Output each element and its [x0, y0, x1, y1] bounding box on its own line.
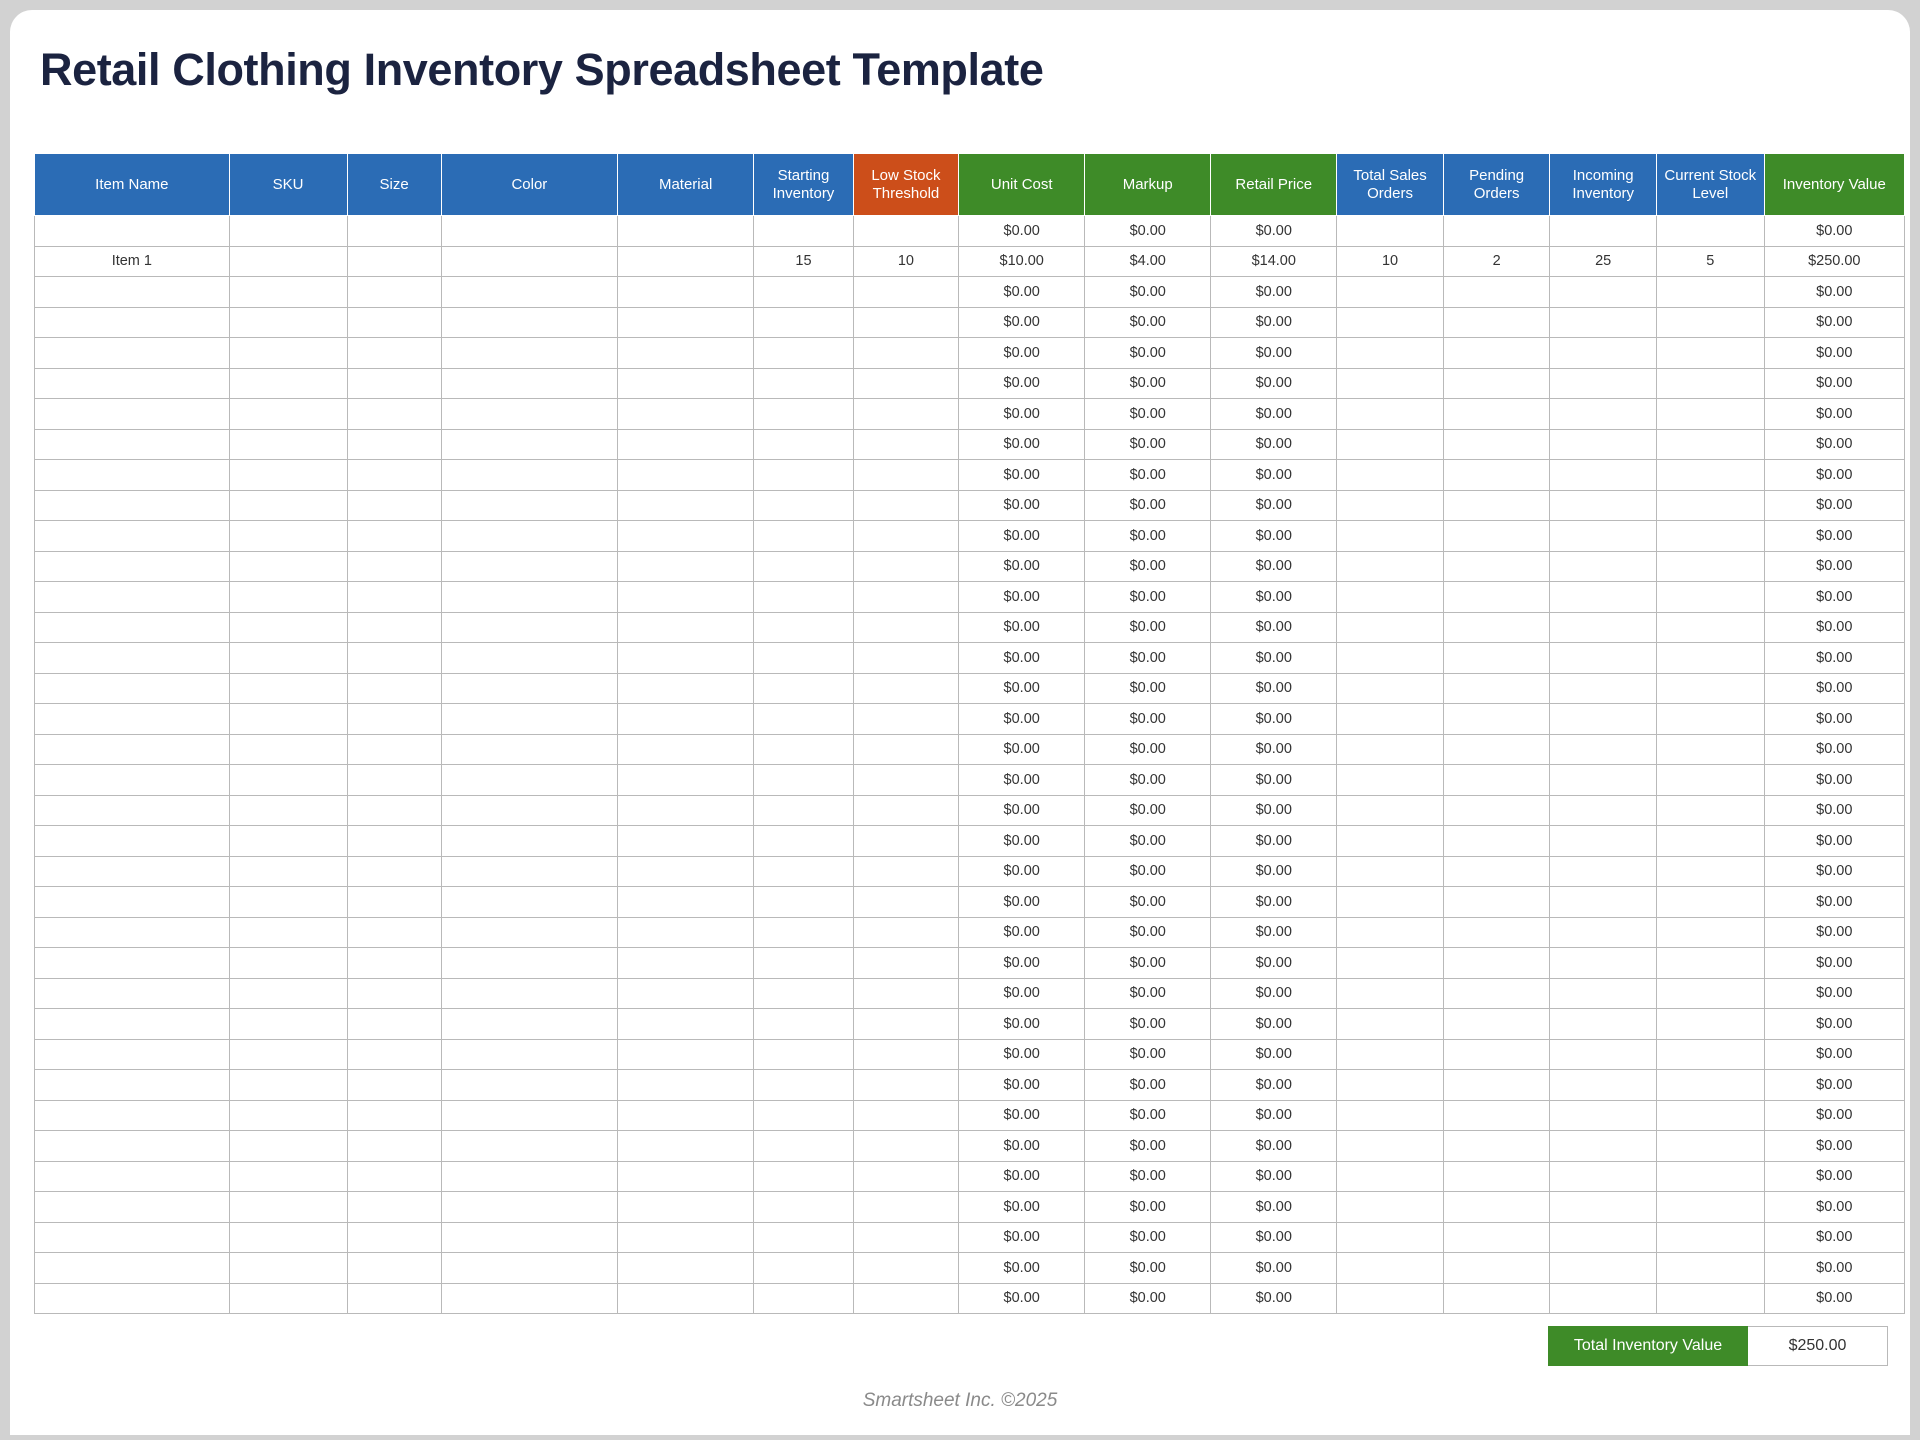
cell-color[interactable] — [441, 490, 617, 521]
cell-total-sales-orders[interactable] — [1337, 399, 1444, 430]
cell-unit-cost[interactable]: $0.00 — [959, 978, 1085, 1009]
table-row[interactable]: $0.00$0.00$0.00$0.00 — [35, 1131, 1905, 1162]
cell-item-name[interactable] — [35, 216, 230, 247]
cell-size[interactable] — [347, 1009, 441, 1040]
table-row[interactable]: $0.00$0.00$0.00$0.00 — [35, 826, 1905, 857]
cell-unit-cost[interactable]: $0.00 — [959, 1009, 1085, 1040]
cell-pending-orders[interactable] — [1443, 460, 1550, 491]
cell-retail-price[interactable]: $0.00 — [1211, 1009, 1337, 1040]
cell-pending-orders[interactable] — [1443, 338, 1550, 369]
cell-starting-inventory[interactable] — [754, 216, 853, 247]
cell-color[interactable] — [441, 1009, 617, 1040]
cell-unit-cost[interactable]: $0.00 — [959, 765, 1085, 796]
table-row[interactable]: $0.00$0.00$0.00$0.00 — [35, 1070, 1905, 1101]
cell-color[interactable] — [441, 765, 617, 796]
cell-retail-price[interactable]: $0.00 — [1211, 673, 1337, 704]
cell-markup[interactable]: $0.00 — [1085, 673, 1211, 704]
cell-total-sales-orders[interactable] — [1337, 704, 1444, 735]
cell-size[interactable] — [347, 826, 441, 857]
cell-retail-price[interactable]: $0.00 — [1211, 368, 1337, 399]
cell-incoming-inventory[interactable] — [1550, 1100, 1657, 1131]
cell-retail-price[interactable]: $0.00 — [1211, 612, 1337, 643]
cell-incoming-inventory[interactable] — [1550, 521, 1657, 552]
cell-unit-cost[interactable]: $0.00 — [959, 1100, 1085, 1131]
cell-current-stock-level[interactable] — [1656, 704, 1764, 735]
cell-current-stock-level[interactable] — [1656, 948, 1764, 979]
cell-retail-price[interactable]: $0.00 — [1211, 460, 1337, 491]
cell-sku[interactable] — [229, 338, 347, 369]
cell-pending-orders[interactable] — [1443, 521, 1550, 552]
cell-total-sales-orders[interactable] — [1337, 948, 1444, 979]
cell-total-sales-orders[interactable] — [1337, 673, 1444, 704]
cell-retail-price[interactable]: $0.00 — [1211, 856, 1337, 887]
cell-incoming-inventory[interactable] — [1550, 1009, 1657, 1040]
cell-incoming-inventory[interactable] — [1550, 795, 1657, 826]
cell-current-stock-level[interactable] — [1656, 765, 1764, 796]
cell-total-sales-orders[interactable] — [1337, 826, 1444, 857]
cell-sku[interactable] — [229, 1283, 347, 1314]
cell-unit-cost[interactable]: $0.00 — [959, 1283, 1085, 1314]
cell-low-stock-threshold[interactable] — [853, 612, 959, 643]
cell-current-stock-level[interactable] — [1656, 1161, 1764, 1192]
cell-material[interactable] — [618, 460, 754, 491]
cell-low-stock-threshold[interactable] — [853, 368, 959, 399]
cell-starting-inventory[interactable] — [754, 368, 853, 399]
cell-color[interactable] — [441, 917, 617, 948]
cell-total-sales-orders[interactable] — [1337, 643, 1444, 674]
cell-inventory-value[interactable]: $0.00 — [1764, 948, 1904, 979]
cell-item-name[interactable] — [35, 1131, 230, 1162]
cell-markup[interactable]: $0.00 — [1085, 368, 1211, 399]
cell-total-sales-orders[interactable] — [1337, 978, 1444, 1009]
cell-markup[interactable]: $0.00 — [1085, 826, 1211, 857]
cell-item-name[interactable] — [35, 765, 230, 796]
cell-low-stock-threshold[interactable] — [853, 1039, 959, 1070]
table-row[interactable]: $0.00$0.00$0.00$0.00 — [35, 734, 1905, 765]
cell-low-stock-threshold[interactable] — [853, 460, 959, 491]
cell-low-stock-threshold[interactable] — [853, 1222, 959, 1253]
cell-retail-price[interactable]: $0.00 — [1211, 948, 1337, 979]
cell-total-sales-orders[interactable] — [1337, 765, 1444, 796]
cell-current-stock-level[interactable] — [1656, 1070, 1764, 1101]
cell-color[interactable] — [441, 1222, 617, 1253]
table-row[interactable]: $0.00$0.00$0.00$0.00 — [35, 1161, 1905, 1192]
cell-size[interactable] — [347, 460, 441, 491]
column-header-size[interactable]: Size — [347, 154, 441, 216]
table-row[interactable]: $0.00$0.00$0.00$0.00 — [35, 460, 1905, 491]
cell-pending-orders[interactable] — [1443, 429, 1550, 460]
cell-low-stock-threshold[interactable] — [853, 1009, 959, 1040]
cell-markup[interactable]: $0.00 — [1085, 1009, 1211, 1040]
cell-pending-orders[interactable] — [1443, 826, 1550, 857]
cell-retail-price[interactable]: $0.00 — [1211, 307, 1337, 338]
cell-current-stock-level[interactable] — [1656, 887, 1764, 918]
cell-pending-orders[interactable]: 2 — [1443, 246, 1550, 277]
cell-total-sales-orders[interactable] — [1337, 429, 1444, 460]
cell-inventory-value[interactable]: $0.00 — [1764, 1070, 1904, 1101]
cell-size[interactable] — [347, 246, 441, 277]
cell-pending-orders[interactable] — [1443, 673, 1550, 704]
cell-size[interactable] — [347, 582, 441, 613]
cell-item-name[interactable] — [35, 1253, 230, 1284]
cell-material[interactable] — [618, 887, 754, 918]
cell-unit-cost[interactable]: $0.00 — [959, 307, 1085, 338]
cell-current-stock-level[interactable] — [1656, 399, 1764, 430]
cell-markup[interactable]: $0.00 — [1085, 704, 1211, 735]
cell-low-stock-threshold[interactable] — [853, 277, 959, 308]
cell-inventory-value[interactable]: $0.00 — [1764, 887, 1904, 918]
cell-current-stock-level[interactable] — [1656, 612, 1764, 643]
cell-unit-cost[interactable]: $0.00 — [959, 399, 1085, 430]
cell-starting-inventory[interactable] — [754, 1009, 853, 1040]
cell-material[interactable] — [618, 338, 754, 369]
cell-material[interactable] — [618, 704, 754, 735]
table-row[interactable]: $0.00$0.00$0.00$0.00 — [35, 948, 1905, 979]
cell-inventory-value[interactable]: $250.00 — [1764, 246, 1904, 277]
table-row[interactable]: $0.00$0.00$0.00$0.00 — [35, 765, 1905, 796]
cell-total-sales-orders[interactable] — [1337, 368, 1444, 399]
cell-current-stock-level[interactable] — [1656, 277, 1764, 308]
cell-sku[interactable] — [229, 1131, 347, 1162]
cell-pending-orders[interactable] — [1443, 948, 1550, 979]
cell-inventory-value[interactable]: $0.00 — [1764, 673, 1904, 704]
cell-item-name[interactable] — [35, 948, 230, 979]
cell-material[interactable] — [618, 521, 754, 552]
cell-material[interactable] — [618, 307, 754, 338]
cell-low-stock-threshold[interactable] — [853, 765, 959, 796]
cell-material[interactable] — [618, 734, 754, 765]
cell-markup[interactable]: $0.00 — [1085, 1222, 1211, 1253]
cell-low-stock-threshold[interactable] — [853, 704, 959, 735]
cell-markup[interactable]: $0.00 — [1085, 490, 1211, 521]
cell-unit-cost[interactable]: $0.00 — [959, 612, 1085, 643]
cell-item-name[interactable] — [35, 673, 230, 704]
column-header-incoming-inventory[interactable]: Incoming Inventory — [1550, 154, 1657, 216]
table-row[interactable]: $0.00$0.00$0.00$0.00 — [35, 551, 1905, 582]
cell-sku[interactable] — [229, 704, 347, 735]
cell-inventory-value[interactable]: $0.00 — [1764, 1222, 1904, 1253]
cell-pending-orders[interactable] — [1443, 765, 1550, 796]
cell-incoming-inventory[interactable] — [1550, 917, 1657, 948]
cell-material[interactable] — [618, 1253, 754, 1284]
cell-pending-orders[interactable] — [1443, 917, 1550, 948]
cell-item-name[interactable] — [35, 582, 230, 613]
cell-inventory-value[interactable]: $0.00 — [1764, 826, 1904, 857]
cell-pending-orders[interactable] — [1443, 887, 1550, 918]
cell-pending-orders[interactable] — [1443, 1161, 1550, 1192]
cell-markup[interactable]: $0.00 — [1085, 399, 1211, 430]
cell-starting-inventory[interactable] — [754, 704, 853, 735]
cell-current-stock-level[interactable]: 5 — [1656, 246, 1764, 277]
column-header-inventory-value[interactable]: Inventory Value — [1764, 154, 1904, 216]
cell-size[interactable] — [347, 643, 441, 674]
cell-retail-price[interactable]: $0.00 — [1211, 734, 1337, 765]
cell-retail-price[interactable]: $0.00 — [1211, 429, 1337, 460]
cell-incoming-inventory[interactable] — [1550, 948, 1657, 979]
cell-retail-price[interactable]: $0.00 — [1211, 551, 1337, 582]
cell-size[interactable] — [347, 704, 441, 735]
cell-retail-price[interactable]: $0.00 — [1211, 978, 1337, 1009]
cell-low-stock-threshold[interactable] — [853, 399, 959, 430]
cell-retail-price[interactable]: $0.00 — [1211, 1100, 1337, 1131]
cell-sku[interactable] — [229, 521, 347, 552]
cell-starting-inventory[interactable]: 15 — [754, 246, 853, 277]
cell-sku[interactable] — [229, 795, 347, 826]
table-row[interactable]: $0.00$0.00$0.00$0.00 — [35, 1253, 1905, 1284]
cell-retail-price[interactable]: $0.00 — [1211, 826, 1337, 857]
cell-pending-orders[interactable] — [1443, 1222, 1550, 1253]
cell-markup[interactable]: $0.00 — [1085, 795, 1211, 826]
cell-color[interactable] — [441, 795, 617, 826]
cell-size[interactable] — [347, 307, 441, 338]
cell-total-sales-orders[interactable] — [1337, 1131, 1444, 1162]
cell-retail-price[interactable]: $0.00 — [1211, 338, 1337, 369]
cell-size[interactable] — [347, 978, 441, 1009]
cell-sku[interactable] — [229, 399, 347, 430]
table-row[interactable]: $0.00$0.00$0.00$0.00 — [35, 612, 1905, 643]
cell-inventory-value[interactable]: $0.00 — [1764, 277, 1904, 308]
table-row[interactable]: $0.00$0.00$0.00$0.00 — [35, 216, 1905, 247]
cell-unit-cost[interactable]: $0.00 — [959, 582, 1085, 613]
cell-retail-price[interactable]: $0.00 — [1211, 765, 1337, 796]
table-row[interactable]: $0.00$0.00$0.00$0.00 — [35, 643, 1905, 674]
cell-inventory-value[interactable]: $0.00 — [1764, 765, 1904, 796]
cell-retail-price[interactable]: $0.00 — [1211, 490, 1337, 521]
cell-total-sales-orders[interactable] — [1337, 216, 1444, 247]
cell-color[interactable] — [441, 1070, 617, 1101]
cell-item-name[interactable] — [35, 643, 230, 674]
cell-current-stock-level[interactable] — [1656, 338, 1764, 369]
table-row[interactable]: $0.00$0.00$0.00$0.00 — [35, 338, 1905, 369]
cell-low-stock-threshold[interactable] — [853, 216, 959, 247]
cell-sku[interactable] — [229, 307, 347, 338]
column-header-sku[interactable]: SKU — [229, 154, 347, 216]
cell-markup[interactable]: $0.00 — [1085, 734, 1211, 765]
cell-pending-orders[interactable] — [1443, 307, 1550, 338]
cell-material[interactable] — [618, 1070, 754, 1101]
cell-color[interactable] — [441, 643, 617, 674]
column-header-markup[interactable]: Markup — [1085, 154, 1211, 216]
cell-unit-cost[interactable]: $0.00 — [959, 551, 1085, 582]
cell-low-stock-threshold[interactable] — [853, 978, 959, 1009]
cell-starting-inventory[interactable] — [754, 765, 853, 796]
cell-starting-inventory[interactable] — [754, 490, 853, 521]
cell-incoming-inventory[interactable] — [1550, 856, 1657, 887]
table-row[interactable]: $0.00$0.00$0.00$0.00 — [35, 887, 1905, 918]
cell-current-stock-level[interactable] — [1656, 1283, 1764, 1314]
cell-low-stock-threshold[interactable] — [853, 521, 959, 552]
cell-sku[interactable] — [229, 612, 347, 643]
cell-incoming-inventory[interactable] — [1550, 582, 1657, 613]
cell-item-name[interactable] — [35, 1222, 230, 1253]
cell-current-stock-level[interactable] — [1656, 582, 1764, 613]
cell-unit-cost[interactable]: $0.00 — [959, 1131, 1085, 1162]
cell-item-name[interactable] — [35, 887, 230, 918]
cell-incoming-inventory[interactable] — [1550, 399, 1657, 430]
cell-material[interactable] — [618, 551, 754, 582]
table-row[interactable]: $0.00$0.00$0.00$0.00 — [35, 795, 1905, 826]
cell-current-stock-level[interactable] — [1656, 307, 1764, 338]
cell-item-name[interactable]: Item 1 — [35, 246, 230, 277]
cell-low-stock-threshold[interactable] — [853, 582, 959, 613]
cell-retail-price[interactable]: $0.00 — [1211, 917, 1337, 948]
cell-material[interactable] — [618, 429, 754, 460]
cell-sku[interactable] — [229, 1039, 347, 1070]
cell-color[interactable] — [441, 673, 617, 704]
cell-inventory-value[interactable]: $0.00 — [1764, 856, 1904, 887]
cell-unit-cost[interactable]: $0.00 — [959, 673, 1085, 704]
cell-incoming-inventory[interactable] — [1550, 826, 1657, 857]
cell-unit-cost[interactable]: $0.00 — [959, 368, 1085, 399]
cell-item-name[interactable] — [35, 917, 230, 948]
cell-current-stock-level[interactable] — [1656, 521, 1764, 552]
cell-total-sales-orders[interactable] — [1337, 1253, 1444, 1284]
table-row[interactable]: $0.00$0.00$0.00$0.00 — [35, 1100, 1905, 1131]
cell-incoming-inventory[interactable] — [1550, 1070, 1657, 1101]
cell-low-stock-threshold[interactable] — [853, 429, 959, 460]
cell-total-sales-orders[interactable] — [1337, 1009, 1444, 1040]
cell-pending-orders[interactable] — [1443, 1100, 1550, 1131]
cell-low-stock-threshold[interactable] — [853, 1192, 959, 1223]
cell-item-name[interactable] — [35, 338, 230, 369]
cell-current-stock-level[interactable] — [1656, 1192, 1764, 1223]
cell-inventory-value[interactable]: $0.00 — [1764, 978, 1904, 1009]
table-row[interactable]: $0.00$0.00$0.00$0.00 — [35, 917, 1905, 948]
cell-total-sales-orders[interactable] — [1337, 307, 1444, 338]
cell-color[interactable] — [441, 826, 617, 857]
cell-incoming-inventory[interactable] — [1550, 1039, 1657, 1070]
cell-unit-cost[interactable]: $0.00 — [959, 887, 1085, 918]
cell-current-stock-level[interactable] — [1656, 551, 1764, 582]
cell-low-stock-threshold[interactable] — [853, 1283, 959, 1314]
cell-low-stock-threshold[interactable] — [853, 551, 959, 582]
cell-markup[interactable]: $0.00 — [1085, 338, 1211, 369]
cell-material[interactable] — [618, 1222, 754, 1253]
cell-item-name[interactable] — [35, 856, 230, 887]
cell-item-name[interactable] — [35, 277, 230, 308]
cell-size[interactable] — [347, 917, 441, 948]
cell-current-stock-level[interactable] — [1656, 216, 1764, 247]
cell-total-sales-orders[interactable] — [1337, 338, 1444, 369]
cell-retail-price[interactable]: $14.00 — [1211, 246, 1337, 277]
cell-sku[interactable] — [229, 978, 347, 1009]
table-row[interactable]: $0.00$0.00$0.00$0.00 — [35, 704, 1905, 735]
cell-total-sales-orders[interactable] — [1337, 1222, 1444, 1253]
cell-starting-inventory[interactable] — [754, 521, 853, 552]
cell-markup[interactable]: $0.00 — [1085, 1283, 1211, 1314]
cell-low-stock-threshold[interactable] — [853, 887, 959, 918]
cell-total-sales-orders[interactable]: 10 — [1337, 246, 1444, 277]
cell-color[interactable] — [441, 1283, 617, 1314]
cell-current-stock-level[interactable] — [1656, 460, 1764, 491]
cell-color[interactable] — [441, 1131, 617, 1162]
cell-inventory-value[interactable]: $0.00 — [1764, 643, 1904, 674]
cell-low-stock-threshold[interactable] — [853, 643, 959, 674]
cell-pending-orders[interactable] — [1443, 582, 1550, 613]
cell-current-stock-level[interactable] — [1656, 1100, 1764, 1131]
column-header-pending-orders[interactable]: Pending Orders — [1443, 154, 1550, 216]
cell-markup[interactable]: $0.00 — [1085, 307, 1211, 338]
cell-retail-price[interactable]: $0.00 — [1211, 795, 1337, 826]
cell-material[interactable] — [618, 582, 754, 613]
cell-inventory-value[interactable]: $0.00 — [1764, 1009, 1904, 1040]
cell-total-sales-orders[interactable] — [1337, 887, 1444, 918]
cell-markup[interactable]: $0.00 — [1085, 1161, 1211, 1192]
cell-item-name[interactable] — [35, 1070, 230, 1101]
cell-material[interactable] — [618, 216, 754, 247]
cell-sku[interactable] — [229, 1100, 347, 1131]
cell-total-sales-orders[interactable] — [1337, 277, 1444, 308]
cell-color[interactable] — [441, 246, 617, 277]
cell-material[interactable] — [618, 673, 754, 704]
table-row[interactable]: $0.00$0.00$0.00$0.00 — [35, 978, 1905, 1009]
cell-material[interactable] — [618, 765, 754, 796]
cell-color[interactable] — [441, 1039, 617, 1070]
cell-color[interactable] — [441, 612, 617, 643]
cell-material[interactable] — [618, 246, 754, 277]
cell-current-stock-level[interactable] — [1656, 917, 1764, 948]
cell-color[interactable] — [441, 460, 617, 491]
cell-sku[interactable] — [229, 490, 347, 521]
cell-item-name[interactable] — [35, 1192, 230, 1223]
cell-low-stock-threshold[interactable] — [853, 948, 959, 979]
cell-color[interactable] — [441, 307, 617, 338]
cell-incoming-inventory[interactable] — [1550, 612, 1657, 643]
cell-item-name[interactable] — [35, 460, 230, 491]
table-row[interactable]: $0.00$0.00$0.00$0.00 — [35, 582, 1905, 613]
cell-markup[interactable]: $0.00 — [1085, 521, 1211, 552]
cell-unit-cost[interactable]: $0.00 — [959, 643, 1085, 674]
cell-sku[interactable] — [229, 1161, 347, 1192]
cell-color[interactable] — [441, 338, 617, 369]
column-header-starting-inventory[interactable]: Starting Inventory — [754, 154, 853, 216]
cell-markup[interactable]: $0.00 — [1085, 277, 1211, 308]
table-row[interactable]: $0.00$0.00$0.00$0.00 — [35, 399, 1905, 430]
cell-unit-cost[interactable]: $0.00 — [959, 338, 1085, 369]
cell-material[interactable] — [618, 978, 754, 1009]
cell-current-stock-level[interactable] — [1656, 734, 1764, 765]
cell-incoming-inventory[interactable] — [1550, 1161, 1657, 1192]
cell-material[interactable] — [618, 1192, 754, 1223]
cell-markup[interactable]: $0.00 — [1085, 429, 1211, 460]
cell-incoming-inventory[interactable] — [1550, 1283, 1657, 1314]
column-header-material[interactable]: Material — [618, 154, 754, 216]
cell-sku[interactable] — [229, 460, 347, 491]
cell-incoming-inventory[interactable] — [1550, 460, 1657, 491]
cell-inventory-value[interactable]: $0.00 — [1764, 1161, 1904, 1192]
cell-current-stock-level[interactable] — [1656, 1222, 1764, 1253]
cell-item-name[interactable] — [35, 734, 230, 765]
cell-sku[interactable] — [229, 1222, 347, 1253]
cell-pending-orders[interactable] — [1443, 1253, 1550, 1284]
cell-starting-inventory[interactable] — [754, 917, 853, 948]
cell-color[interactable] — [441, 1161, 617, 1192]
cell-retail-price[interactable]: $0.00 — [1211, 1039, 1337, 1070]
cell-pending-orders[interactable] — [1443, 1070, 1550, 1101]
cell-low-stock-threshold[interactable] — [853, 1253, 959, 1284]
cell-inventory-value[interactable]: $0.00 — [1764, 582, 1904, 613]
cell-item-name[interactable] — [35, 1100, 230, 1131]
cell-color[interactable] — [441, 277, 617, 308]
cell-size[interactable] — [347, 429, 441, 460]
cell-sku[interactable] — [229, 765, 347, 796]
cell-color[interactable] — [441, 521, 617, 552]
cell-inventory-value[interactable]: $0.00 — [1764, 429, 1904, 460]
cell-pending-orders[interactable] — [1443, 399, 1550, 430]
cell-incoming-inventory[interactable] — [1550, 490, 1657, 521]
cell-material[interactable] — [618, 643, 754, 674]
cell-current-stock-level[interactable] — [1656, 795, 1764, 826]
